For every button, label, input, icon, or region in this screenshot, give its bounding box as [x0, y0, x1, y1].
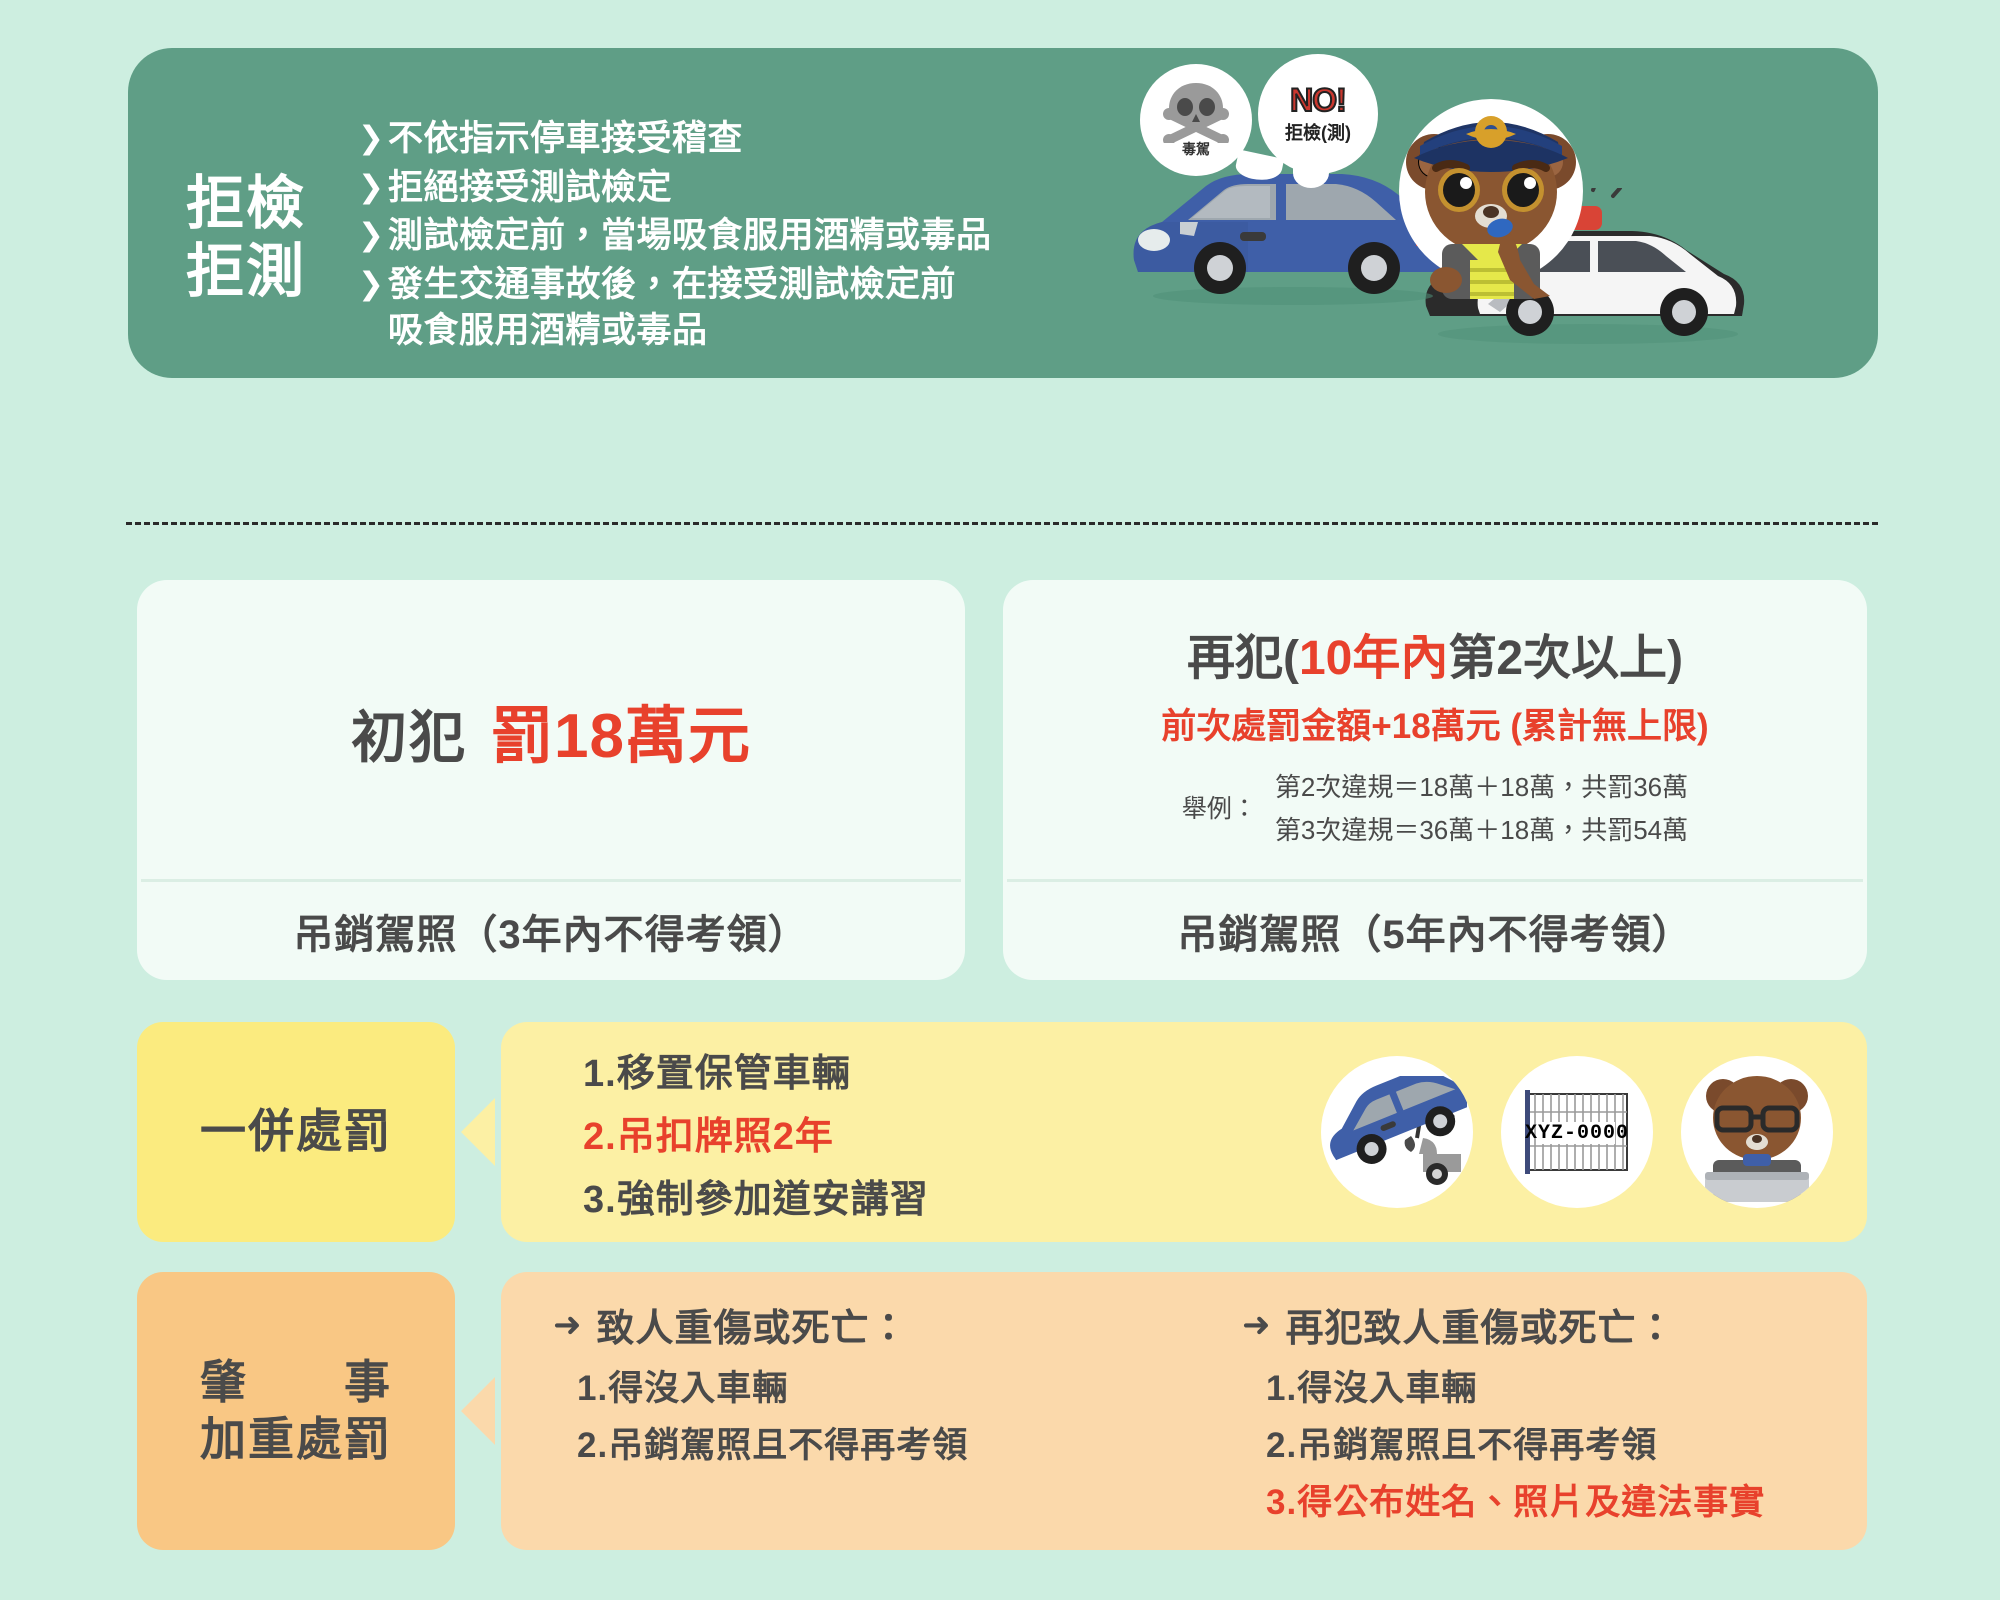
- accident-column-list: 1.得沒入車輛 2.吊銷駕照且不得再考領: [553, 1360, 1178, 1468]
- accident-penalty-content: ➜ 致人重傷或死亡： 1.得沒入車輛 2.吊銷駕照且不得再考領 ➜ 再犯致人重傷…: [501, 1272, 1867, 1550]
- combined-penalty-band: 一併處罰 1.移置保管車輛 2.吊扣牌照2年 3.強制參加道安講習: [137, 1022, 1867, 1242]
- list-item: 1.得沒入車輛: [1266, 1360, 1867, 1411]
- combined-penalty-icons: XYZ-0000: [1321, 1022, 1833, 1242]
- tow-truck-icon: [1321, 1056, 1473, 1208]
- example-label: 舉例：: [1182, 789, 1257, 825]
- first-offense-label: 初犯: [351, 693, 467, 774]
- repeat-offense-body: 再犯(10年內第2次以上) 前次處罰金額+18萬元 (累計無上限) 舉例： 第2…: [1003, 580, 1867, 879]
- bear-class-icon: [1681, 1056, 1833, 1208]
- heading-text: 致人重傷或死亡：: [597, 1297, 909, 1352]
- list-item: 2.吊扣牌照2年: [583, 1105, 929, 1160]
- list-item: 3.強制參加道安講習: [583, 1168, 929, 1223]
- repeat-offense-title: 再犯(10年內第2次以上): [1187, 618, 1683, 688]
- refusal-speech-bubble: NO! 拒檢(測): [1258, 54, 1378, 174]
- first-offense-card: 初犯 罰18萬元 吊銷駕照（3年內不得考領）: [137, 580, 965, 980]
- skull-and-crossbones-icon: [1159, 81, 1233, 143]
- accident-penalty-band: 肇 事 加重處罰 ➜ 致人重傷或死亡： 1.得沒入車輛 2.吊銷駕照且不得再考領: [137, 1272, 1867, 1550]
- refusal-label: 拒檢(測): [1285, 119, 1351, 145]
- chevron-right-icon: ❯: [358, 262, 388, 307]
- list-item: 2.吊銷駕照且不得再考領: [1266, 1417, 1867, 1468]
- arrow-right-icon: ➜: [1242, 1308, 1272, 1342]
- repeat-title-suffix: ): [1667, 632, 1683, 685]
- skull-speech-bubble: 毒駕: [1140, 64, 1252, 176]
- list-item-label: 發生交通事故後，在接受測試檢定前 吸食服用酒精或毒品: [388, 262, 956, 355]
- license-plate-glyph: XYZ-0000: [1517, 1082, 1637, 1182]
- page-title: 拒檢 拒測: [186, 170, 306, 307]
- skull-bubble-label: 毒駕: [1182, 139, 1210, 159]
- left-arrow-icon: [455, 1022, 501, 1242]
- first-offense-body: 初犯 罰18萬元: [137, 580, 965, 879]
- chevron-right-icon: ❯: [358, 116, 388, 161]
- header-illustration: 毒駕 NO! 拒檢(測): [1118, 48, 1878, 378]
- repeat-title-mid: 第2次以上: [1448, 632, 1667, 685]
- police-bear-icon: [1384, 84, 1599, 299]
- example-line: 第2次違規＝18萬＋18萬，共罰36萬: [1275, 767, 1688, 804]
- combined-penalty-list: 1.移置保管車輛 2.吊扣牌照2年 3.強制參加道安講習: [583, 1042, 929, 1223]
- infographic-page: 拒檢 拒測 ❯ 不依指示停車接受稽查 ❯ 拒絕接受測試檢定 ❯ 測試檢定前，當場…: [0, 0, 2000, 1600]
- no-text: NO!: [1290, 84, 1346, 116]
- accident-penalty-label: 肇 事 加重處罰: [137, 1272, 455, 1550]
- repeat-offense-card: 再犯(10年內第2次以上) 前次處罰金額+18萬元 (累計無上限) 舉例： 第2…: [1003, 580, 1867, 980]
- list-item: 3.得公布姓名、照片及違法事實: [1266, 1474, 1867, 1525]
- list-item: 1.移置保管車輛: [583, 1042, 929, 1097]
- accident-column-heading: ➜ 再犯致人重傷或死亡：: [1242, 1297, 1867, 1352]
- license-plate-icon: XYZ-0000: [1501, 1056, 1653, 1208]
- list-item-label: 測試檢定前，當場吸食服用酒精或毒品: [388, 213, 992, 260]
- chevron-right-icon: ❯: [358, 165, 388, 210]
- list-item: 1.得沒入車輛: [577, 1360, 1178, 1411]
- heading-text: 再犯致人重傷或死亡：: [1286, 1297, 1676, 1352]
- repeat-title-prefix: 再犯(: [1187, 632, 1299, 685]
- first-offense-amount: 罰18萬元: [491, 685, 751, 775]
- plate-number: XYZ-0000: [1525, 1122, 1629, 1145]
- arrow-right-icon: ➜: [553, 1308, 583, 1342]
- accident-column-repeat: ➜ 再犯致人重傷或死亡： 1.得沒入車輛 2.吊銷駕照且不得再考領 3.得公布姓…: [1242, 1297, 1867, 1525]
- list-item-label: 拒絕接受測試檢定: [388, 165, 672, 212]
- left-arrow-icon: [455, 1272, 501, 1550]
- repeat-offense-footer: 吊銷駕照（5年內不得考領）: [1003, 882, 1867, 980]
- combined-penalty-label: 一併處罰: [137, 1022, 455, 1242]
- chevron-right-icon: ❯: [358, 213, 388, 258]
- repeat-offense-examples: 舉例： 第2次違規＝18萬＋18萬，共罰36萬 第3次違規＝36萬＋18萬，共罰…: [1182, 767, 1688, 847]
- accident-column-list: 1.得沒入車輛 2.吊銷駕照且不得再考領 3.得公布姓名、照片及違法事實: [1242, 1360, 1867, 1525]
- repeat-title-highlight: 10年內: [1299, 632, 1448, 685]
- list-item-label: 不依指示停車接受稽查: [388, 116, 743, 163]
- list-item: 2.吊銷駕照且不得再考領: [577, 1417, 1178, 1468]
- bear-student-glyph: [1687, 1062, 1827, 1202]
- section-divider: [126, 522, 1878, 525]
- example-line: 第3次違規＝36萬＋18萬，共罰54萬: [1275, 810, 1688, 847]
- accident-column-first: ➜ 致人重傷或死亡： 1.得沒入車輛 2.吊銷駕照且不得再考領: [553, 1297, 1178, 1525]
- header-panel: 拒檢 拒測 ❯ 不依指示停車接受稽查 ❯ 拒絕接受測試檢定 ❯ 測試檢定前，當場…: [128, 48, 1878, 378]
- tow-truck-glyph: [1327, 1076, 1467, 1188]
- accident-penalty-columns: ➜ 致人重傷或死亡： 1.得沒入車輛 2.吊銷駕照且不得再考領 ➜ 再犯致人重傷…: [501, 1297, 1867, 1525]
- repeat-offense-subtitle: 前次處罰金額+18萬元 (累計無上限): [1161, 698, 1708, 749]
- first-offense-footer: 吊銷駕照（3年內不得考領）: [137, 882, 965, 980]
- combined-penalty-content: 1.移置保管車輛 2.吊扣牌照2年 3.強制參加道安講習: [501, 1022, 1867, 1242]
- penalty-cards-row: 初犯 罰18萬元 吊銷駕照（3年內不得考領） 再犯(10年內第2次以上) 前次處…: [137, 580, 1867, 980]
- accident-column-heading: ➜ 致人重傷或死亡：: [553, 1297, 1178, 1352]
